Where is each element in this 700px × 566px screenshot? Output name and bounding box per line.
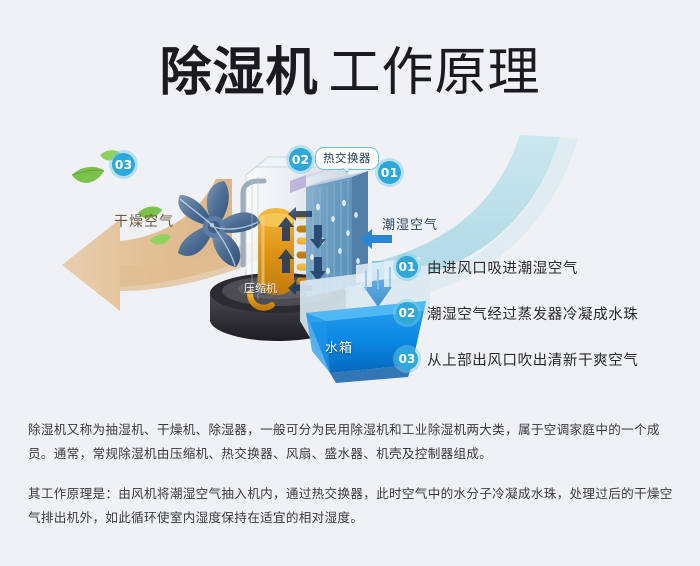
legend-badge-01: 01 — [396, 256, 418, 278]
callout-tail — [342, 168, 352, 176]
diagram-badge-03: 03 — [112, 153, 135, 176]
diagram-badge-02: 02 — [289, 148, 312, 171]
legend-badge-03: 03 — [396, 348, 418, 370]
label-compressor: 压缩机 — [244, 280, 277, 296]
infographic-page: 除湿机工作原理 — [0, 0, 700, 566]
page-title: 除湿机工作原理 — [0, 30, 700, 105]
callout-heat-exchanger-text: 热交换器 — [323, 151, 371, 165]
callout-heat-exchanger: 热交换器 — [315, 147, 379, 170]
legend-badge-02: 02 — [396, 302, 418, 324]
legend-item-02: 02 潮湿空气经过蒸发器冷凝成水珠 — [396, 301, 686, 325]
legend-text-01: 由进风口吸进潮湿空气 — [427, 257, 578, 278]
diagram-badge-01: 01 — [378, 161, 401, 184]
legend-text-03: 从上部出风口吹出清新干爽空气 — [427, 349, 638, 370]
body-copy: 除湿机又称为抽湿机、干燥机、除湿器，一般可分为民用除湿机和工业除湿机两大类，属于… — [28, 418, 676, 530]
body-paragraph-1: 除湿机又称为抽湿机、干燥机、除湿器，一般可分为民用除湿机和工业除湿机两大类，属于… — [28, 418, 676, 466]
label-water-tank: 水箱 — [325, 337, 353, 356]
label-humid-air: 潮湿空气 — [382, 214, 438, 233]
legend-item-03: 03 从上部出风口吹出清新干爽空气 — [396, 347, 686, 371]
legend-list: 01 由进风口吸进潮湿空气 02 潮湿空气经过蒸发器冷凝成水珠 03 从上部出风… — [396, 255, 686, 393]
label-dry-air: 干燥空气 — [114, 211, 174, 231]
legend-item-01: 01 由进风口吸进潮湿空气 — [396, 255, 686, 279]
title-light-part: 工作原理 — [329, 43, 541, 103]
title-bold-part: 除湿机 — [159, 43, 318, 103]
legend-text-02: 潮湿空气经过蒸发器冷凝成水珠 — [427, 303, 638, 324]
body-paragraph-2: 其工作原理是：由风机将潮湿空气抽入机内，通过热交换器，此时空气中的水分子冷凝成水… — [28, 482, 676, 530]
